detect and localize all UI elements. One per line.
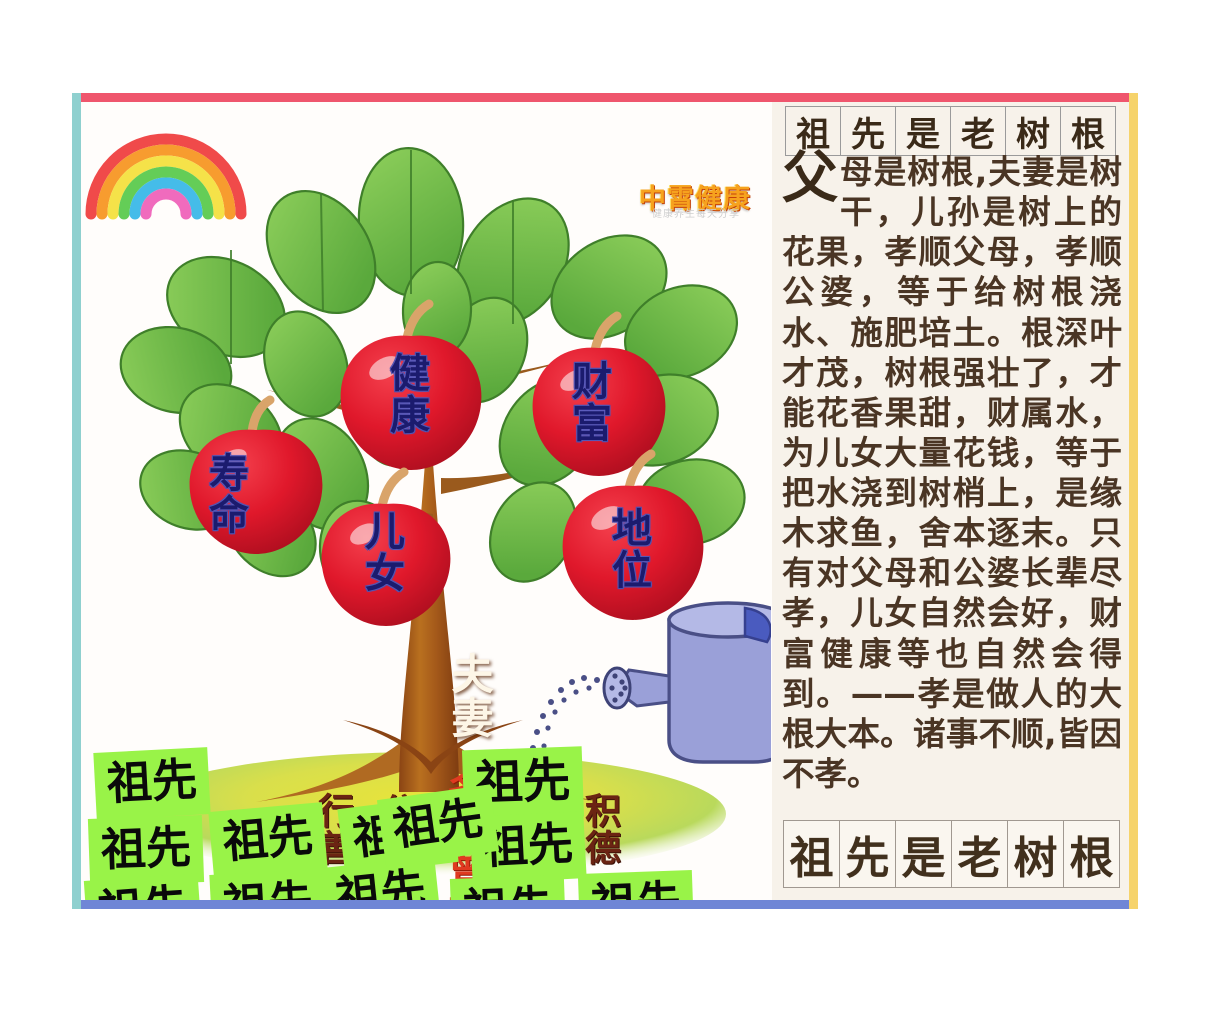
panel-footer-banner: 祖先是老树根	[784, 820, 1120, 888]
panel-title-char-4: 树	[1005, 106, 1061, 156]
ancestor-sticker: 祖先	[93, 747, 210, 820]
panel-title-char-5: 根	[1060, 106, 1116, 156]
poster-frame: 寿命 健康 儿女 财富 地位 夫妻 行善 公婆 爷奶曾祖 父母 积德 中霄健康 …	[72, 93, 1138, 909]
panel-title-char-3: 老	[950, 106, 1006, 156]
root-label-jide: 积德	[581, 792, 617, 866]
panel-title-char-1: 先	[840, 106, 896, 156]
panel-footer-char-5: 根	[1063, 820, 1120, 888]
frame-edge-right	[1129, 93, 1138, 909]
frame-edge-top	[72, 93, 1138, 102]
ancestor-sticker: 祖先	[578, 870, 694, 900]
panel-body-text: 父母是树根,夫妻是树干，儿孙是树上的花果，孝顺父母，孝顺公婆，等于给树根浇水、施…	[782, 152, 1122, 794]
panel-footer-char-1: 先	[839, 820, 896, 888]
frame-edge-left	[72, 93, 81, 909]
panel-footer-char-0: 祖	[783, 820, 840, 888]
body-paragraph: 母是树根,夫妻是树干，儿孙是树上的花果，孝顺父母，孝顺公婆，等于给树根浇水、施肥…	[782, 153, 1122, 793]
text-panel: 祖先是老树根 父母是树根,夫妻是树干，儿孙是树上的花果，孝顺父母，孝顺公婆，等于…	[772, 102, 1129, 900]
ancestor-sticker: 祖先	[208, 802, 327, 879]
frame-edge-bottom	[72, 900, 1138, 909]
rainbow-icon	[81, 102, 251, 222]
panel-footer-char-2: 是	[895, 820, 952, 888]
panel-footer-char-4: 树	[1007, 820, 1064, 888]
ancestor-sticker: 祖先	[450, 875, 566, 900]
ancestor-sticker: 祖先	[209, 869, 326, 900]
panel-title-char-2: 是	[895, 106, 951, 156]
logo-subtext: 健康养生每天分享	[601, 205, 771, 220]
drop-cap: 父	[782, 154, 838, 204]
panel-footer-char-3: 老	[951, 820, 1008, 888]
family-tree-illustration: 寿命 健康 儿女 财富 地位 夫妻 行善 公婆 爷奶曾祖 父母 积德 中霄健康 …	[81, 102, 771, 900]
